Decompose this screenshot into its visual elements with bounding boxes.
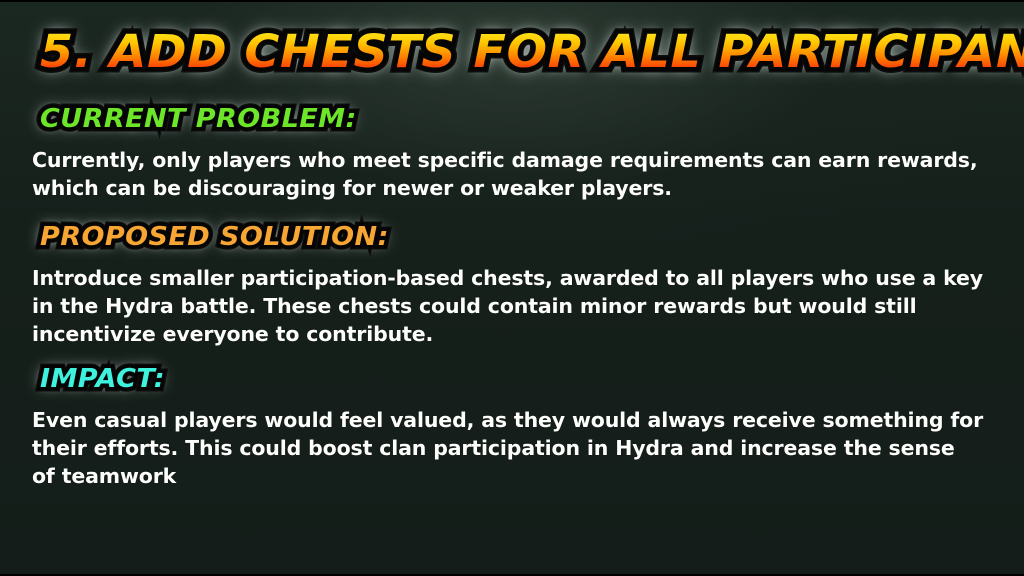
section-body-proposed-solution: Introduce smaller participation-based ch…	[32, 264, 984, 348]
section-body-impact: Even casual players would feel valued, a…	[32, 406, 984, 490]
slide-content: 5. ADD CHESTS FOR ALL PARTICIPANTS 5. AD…	[32, 22, 996, 508]
section-body-current-problem: Currently, only players who meet specifi…	[32, 146, 984, 202]
heading-fill-layer: PROPOSED SOLUTION:	[40, 220, 389, 254]
section-current-problem: CURRENT PROBLEM: CURRENT PROBLEM: CURREN…	[32, 102, 996, 202]
slide-canvas: 5. ADD CHESTS FOR ALL PARTICIPANTS 5. AD…	[0, 0, 1024, 576]
section-heading-proposed-solution: PROPOSED SOLUTION: PROPOSED SOLUTION: PR…	[40, 220, 996, 256]
section-proposed-solution: PROPOSED SOLUTION: PROPOSED SOLUTION: PR…	[32, 220, 996, 348]
heading-fill-layer: CURRENT PROBLEM:	[40, 102, 357, 136]
section-impact: IMPACT: IMPACT: IMPACT: Even casual play…	[32, 362, 996, 490]
title-spacer	[32, 88, 996, 102]
slide-title: 5. ADD CHESTS FOR ALL PARTICIPANTS 5. AD…	[40, 22, 996, 84]
section-heading-current-problem: CURRENT PROBLEM: CURRENT PROBLEM: CURREN…	[40, 102, 996, 138]
heading-fill-layer: IMPACT:	[40, 362, 165, 396]
section-heading-impact: IMPACT: IMPACT: IMPACT:	[40, 362, 996, 398]
slide-title-fill-layer: 5. ADD CHESTS FOR ALL PARTICIPANTS	[40, 22, 1024, 82]
